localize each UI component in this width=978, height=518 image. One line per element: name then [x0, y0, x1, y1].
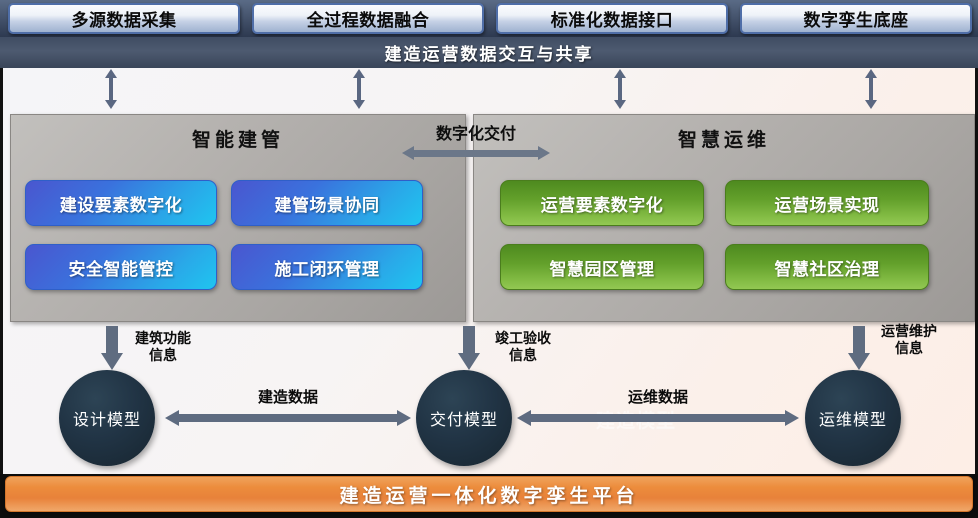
- top-box-label: 数字孪生底座: [804, 6, 909, 31]
- feature-label: 运营场景实现: [775, 191, 880, 216]
- top-box-digital-twin-base[interactable]: 数字孪生底座: [740, 3, 972, 34]
- digital-delivery-double-arrow-icon: [402, 146, 550, 160]
- arrow-head-down: [105, 100, 117, 109]
- node-operation-model[interactable]: 运维模型: [805, 370, 901, 466]
- feature-label: 安全智能管控: [69, 255, 174, 280]
- arrow-head-down: [865, 100, 877, 109]
- flow-label-building-function: 建筑功能 信息: [121, 331, 205, 365]
- arrow-head-down: [101, 353, 123, 370]
- feature-button-construction-element-digitization[interactable]: 建设要素数字化: [25, 180, 217, 226]
- feature-button-operation-scene-realization[interactable]: 运营场景实现: [725, 180, 929, 226]
- arrow-head-right: [785, 410, 799, 426]
- diagram-root: 多源数据采集 全过程数据融合 标准化数据接口 数字孪生底座 建造运营数据交互与共…: [0, 0, 978, 518]
- feature-button-smart-park-management[interactable]: 智慧园区管理: [500, 244, 704, 290]
- down-arrow-icon-completion-acceptance: [458, 326, 480, 370]
- feature-label: 运营要素数字化: [541, 191, 664, 216]
- feature-label: 智慧社区治理: [775, 255, 880, 280]
- vertical-double-arrow-icon: [353, 69, 365, 109]
- feature-label: 建设要素数字化: [60, 191, 183, 216]
- arrow-head-right: [538, 146, 550, 160]
- top-box-full-process-fusion[interactable]: 全过程数据融合: [252, 3, 484, 34]
- vertical-double-arrow-icon: [865, 69, 877, 109]
- data-sharing-header-bar: 建造运营数据交互与共享: [0, 37, 978, 69]
- top-box-label: 标准化数据接口: [551, 6, 674, 31]
- node-label: 交付模型: [430, 406, 498, 430]
- arrow-shaft: [178, 414, 398, 422]
- vertical-double-arrow-icon: [105, 69, 117, 109]
- arrow-head-down: [614, 100, 626, 109]
- flow-label-line2: 信息: [121, 348, 205, 365]
- arrow-shaft: [106, 326, 118, 354]
- arrow-shaft: [109, 77, 113, 101]
- main-body-panel: 智能建管 智慧运维 建设要素数字化 建管场景协同 安全智能管控 施工闭环管理 运…: [0, 68, 978, 474]
- feature-label: 建管场景协同: [275, 191, 380, 216]
- flow-label-completion-acceptance: 竣工验收 信息: [481, 331, 565, 365]
- header-title: 建造运营数据交互与共享: [385, 40, 594, 65]
- arrow-shaft: [463, 326, 475, 354]
- node-design-model[interactable]: 设计模型: [59, 370, 155, 466]
- flow-label-line1: 建筑功能: [121, 331, 205, 348]
- arrow-head-left: [517, 410, 531, 426]
- feature-button-construction-closed-loop-management[interactable]: 施工闭环管理: [231, 244, 423, 290]
- flow-label-line1: 竣工验收: [481, 331, 565, 348]
- top-box-multi-source-collection[interactable]: 多源数据采集: [8, 3, 240, 34]
- digital-delivery-label: 数字化交付: [402, 120, 550, 144]
- feature-button-safety-intelligent-control[interactable]: 安全智能管控: [25, 244, 217, 290]
- vertical-double-arrow-icon: [614, 69, 626, 109]
- arrow-head-left: [165, 410, 179, 426]
- link-arrow-operation-data: [517, 410, 799, 426]
- node-label: 运维模型: [819, 406, 887, 430]
- panel-left-title: 智能建管: [11, 125, 465, 152]
- feature-button-smart-community-governance[interactable]: 智慧社区治理: [725, 244, 929, 290]
- arrow-shaft: [618, 77, 622, 101]
- top-box-label: 全过程数据融合: [307, 6, 430, 31]
- arrow-shaft: [853, 326, 865, 354]
- node-label: 设计模型: [73, 406, 141, 430]
- arrow-head-down: [458, 353, 480, 370]
- top-box-label: 多源数据采集: [72, 6, 177, 31]
- link-arrow-construction-data: [165, 410, 411, 426]
- arrow-shaft: [413, 150, 539, 157]
- flow-label-line1: 运营维护: [867, 324, 951, 341]
- arrow-shaft: [530, 414, 786, 422]
- arrow-shaft: [869, 77, 873, 101]
- top-box-standard-interface[interactable]: 标准化数据接口: [496, 3, 728, 34]
- link-label-operation-data: 运维数据: [517, 386, 799, 407]
- feature-button-construction-scene-collaboration[interactable]: 建管场景协同: [231, 180, 423, 226]
- feature-label: 施工闭环管理: [275, 255, 380, 280]
- top-capability-row: 多源数据采集 全过程数据融合 标准化数据接口 数字孪生底座: [0, 0, 978, 37]
- feature-button-operation-element-digitization[interactable]: 运营要素数字化: [500, 180, 704, 226]
- platform-footer-bar: 建造运营一体化数字孪生平台: [5, 476, 973, 512]
- footer-title: 建造运营一体化数字孪生平台: [339, 481, 638, 508]
- arrow-head-right: [397, 410, 411, 426]
- arrow-head-down: [353, 100, 365, 109]
- flow-label-line2: 信息: [867, 341, 951, 358]
- feature-label: 智慧园区管理: [550, 255, 655, 280]
- down-arrow-icon-building-function: [101, 326, 123, 370]
- flow-label-line2: 信息: [481, 348, 565, 365]
- flow-label-operation-maintenance: 运营维护 信息: [867, 324, 951, 358]
- arrow-shaft: [357, 77, 361, 101]
- link-label-construction-data: 建造数据: [165, 386, 411, 407]
- node-delivery-model[interactable]: 交付模型: [416, 370, 512, 466]
